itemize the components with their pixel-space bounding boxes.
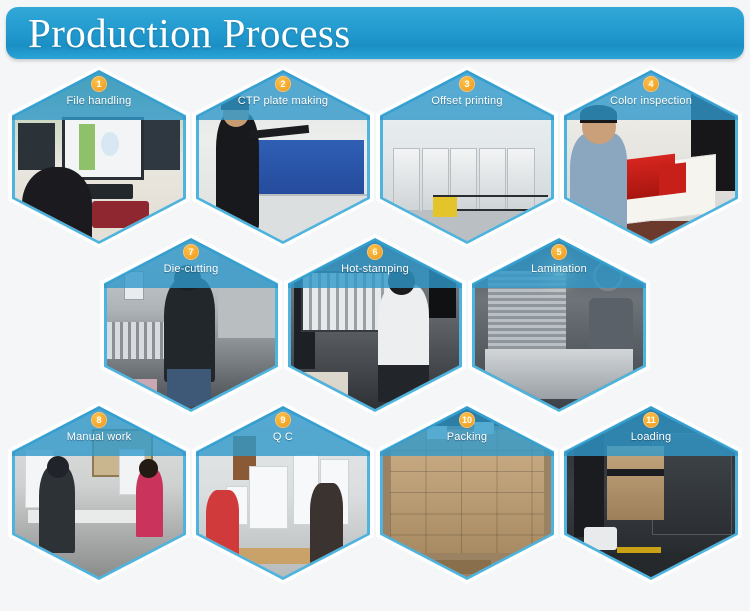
step-4-number-badge: 4 xyxy=(643,76,659,92)
step-3-number-badge: 3 xyxy=(459,76,475,92)
process-step-8[interactable]: 8 Manual work xyxy=(8,402,190,584)
step-11-frame: 11 Loading xyxy=(564,406,738,580)
process-step-10[interactable]: 10 Packing xyxy=(376,402,558,584)
process-step-2[interactable]: 2 CTP plate making xyxy=(192,66,374,248)
process-step-1[interactable]: 1 File handling xyxy=(8,66,190,248)
step-2-number-badge: 2 xyxy=(275,76,291,92)
step-9-frame: 9 Q C xyxy=(196,406,370,580)
step-3-label: Offset printing xyxy=(380,95,554,107)
process-step-4[interactable]: 4 Color inspection xyxy=(560,66,742,248)
page-title: Production Process xyxy=(28,13,351,54)
step-8-number-badge: 8 xyxy=(91,412,107,428)
step-4-frame: 4 Color inspection xyxy=(564,70,738,244)
step-2-label: CTP plate making xyxy=(196,95,370,107)
step-6-label: Hot-stamping xyxy=(288,263,462,275)
step-8-label: Manual work xyxy=(12,431,186,443)
step-1-number-badge: 1 xyxy=(91,76,107,92)
step-1-label: File handling xyxy=(12,95,186,107)
step-7-frame: 7 Die-cutting xyxy=(104,238,278,412)
step-5-number-badge: 5 xyxy=(551,244,567,260)
process-step-9[interactable]: 9 Q C xyxy=(192,402,374,584)
step-1-frame: 1 File handling xyxy=(12,70,186,244)
step-2-frame: 2 CTP plate making xyxy=(196,70,370,244)
step-4-label: Color inspection xyxy=(564,95,738,107)
process-step-5[interactable]: 5 Lamination xyxy=(468,234,650,416)
step-6-frame: 6 Hot-stamping xyxy=(288,238,462,412)
step-7-label: Die-cutting xyxy=(104,263,278,275)
page-title-banner: Production Process xyxy=(6,7,744,59)
step-10-frame: 10 Packing xyxy=(380,406,554,580)
step-9-label: Q C xyxy=(196,431,370,443)
step-10-number-badge: 10 xyxy=(459,412,475,428)
step-11-label: Loading xyxy=(564,431,738,443)
process-step-6[interactable]: 6 Hot-stamping xyxy=(284,234,466,416)
step-5-frame: 5 Lamination xyxy=(472,238,646,412)
process-step-11[interactable]: 11 Loading xyxy=(560,402,742,584)
production-process-hex-grid: 1 File handling 2 CTP plate making xyxy=(0,62,750,611)
step-9-number-badge: 9 xyxy=(275,412,291,428)
step-8-frame: 8 Manual work xyxy=(12,406,186,580)
process-step-3[interactable]: 3 Offset printing xyxy=(376,66,558,248)
step-10-label: Packing xyxy=(380,431,554,443)
step-11-number-badge: 11 xyxy=(643,412,659,428)
step-3-frame: 3 Offset printing xyxy=(380,70,554,244)
step-5-label: Lamination xyxy=(472,263,646,275)
step-7-number-badge: 7 xyxy=(183,244,199,260)
step-6-number-badge: 6 xyxy=(367,244,383,260)
process-step-7[interactable]: 7 Die-cutting xyxy=(100,234,282,416)
